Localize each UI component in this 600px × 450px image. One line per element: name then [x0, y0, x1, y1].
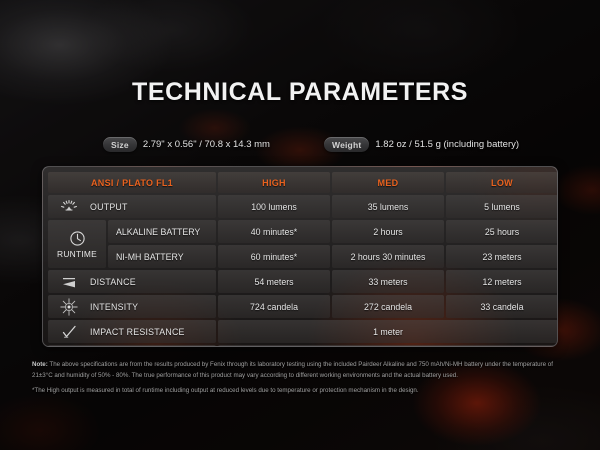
row-label-impact: IMPACT RESISTANCE: [48, 320, 216, 343]
table-header-row: ANSI / PLATO FL1 HIGH MED LOW: [48, 172, 552, 193]
page-title: TECHNICAL PARAMETERS: [0, 78, 600, 107]
weight-value: 1.82 oz / 51.5 g (including battery): [375, 139, 519, 150]
distance-med: 33 meters: [332, 270, 444, 293]
table-row-runtime: RUNTIME ALKALINE BATTERY 40 minutes* 2 h…: [48, 220, 552, 268]
header-low: LOW: [446, 172, 558, 193]
runtime-nimh-label: NI-MH BATTERY: [108, 245, 216, 268]
table-row-distance: DISTANCE 54 meters 33 meters 12 meters: [48, 270, 552, 293]
row-label-runtime-text: RUNTIME: [57, 249, 97, 259]
clock-icon: [69, 230, 86, 247]
submersible-value: IP68, 2 meters underwater: [218, 345, 558, 347]
row-label-runtime: RUNTIME: [48, 220, 106, 268]
row-label-impact-text: IMPACT RESISTANCE: [90, 327, 185, 337]
distance-low: 12 meters: [446, 270, 558, 293]
runtime-alkaline-high: 40 minutes*: [218, 220, 330, 243]
row-label-intensity-text: INTENSITY: [90, 302, 138, 312]
intensity-low: 33 candela: [446, 295, 558, 318]
intensity-high: 724 candela: [218, 295, 330, 318]
output-med: 35 lumens: [332, 195, 444, 218]
row-label-submersible: SUBMERSIBLE: [48, 345, 216, 347]
table-row-intensity: INTENSITY 724 candela 272 candela 33 can…: [48, 295, 552, 318]
technical-parameters-table: ANSI / PLATO FL1 HIGH MED LOW: [42, 166, 558, 347]
output-high: 100 lumens: [218, 195, 330, 218]
runtime-alkaline-med: 2 hours: [332, 220, 444, 243]
size-value: 2.79" x 0.56" / 70.8 x 14.3 mm: [143, 139, 270, 150]
weight-spec: Weight 1.82 oz / 51.5 g (including batte…: [324, 136, 519, 153]
row-label-distance: DISTANCE: [48, 270, 216, 293]
intensity-med: 272 candela: [332, 295, 444, 318]
runtime-alkaline-row: ALKALINE BATTERY 40 minutes* 2 hours 25 …: [108, 220, 558, 243]
footnote: Note: The above specifications are from …: [32, 359, 572, 396]
table-row-submersible: SUBMERSIBLE IP68, 2 meters underwater: [48, 345, 552, 347]
runtime-nimh-high: 60 minutes*: [218, 245, 330, 268]
output-low: 5 lumens: [446, 195, 558, 218]
row-label-distance-text: DISTANCE: [90, 277, 136, 287]
footnote-line2: *The High output is measured in total of…: [32, 385, 572, 396]
intensity-burst-icon: [48, 298, 90, 316]
weight-pill-label: Weight: [324, 137, 369, 152]
runtime-nimh-low: 23 meters: [446, 245, 558, 268]
footnote-note-prefix: Note:: [32, 361, 48, 368]
row-label-output: OUTPUT: [48, 195, 216, 218]
header-high: HIGH: [218, 172, 330, 193]
header-med: MED: [332, 172, 444, 193]
size-spec: Size 2.79" x 0.56" / 70.8 x 14.3 mm: [103, 136, 270, 153]
row-label-intensity: INTENSITY: [48, 295, 216, 318]
size-pill-label: Size: [103, 137, 137, 152]
beam-distance-icon: [48, 275, 90, 289]
runtime-alkaline-label: ALKALINE BATTERY: [108, 220, 216, 243]
header-standard: ANSI / PLATO FL1: [48, 172, 216, 193]
row-label-output-text: OUTPUT: [90, 202, 128, 212]
impact-resistance-icon: [48, 324, 90, 340]
light-output-icon: [48, 199, 90, 215]
footnote-line1: The above specifications are from the re…: [32, 361, 553, 379]
table-row-impact-resistance: IMPACT RESISTANCE 1 meter: [48, 320, 552, 343]
runtime-nimh-row: NI-MH BATTERY 60 minutes* 2 hours 30 min…: [108, 245, 558, 268]
distance-high: 54 meters: [218, 270, 330, 293]
impact-value: 1 meter: [218, 320, 558, 343]
table-row-output: OUTPUT 100 lumens 35 lumens 5 lumens: [48, 195, 552, 218]
runtime-alkaline-low: 25 hours: [446, 220, 558, 243]
runtime-nimh-med: 2 hours 30 minutes: [332, 245, 444, 268]
